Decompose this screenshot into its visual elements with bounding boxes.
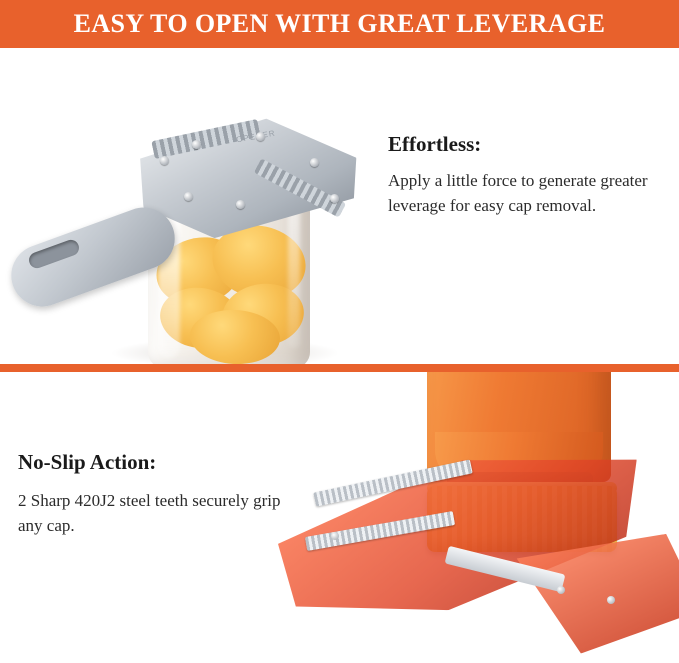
rivet-icon (557, 586, 565, 594)
header-banner: EASY TO OPEN WITH GREAT LEVERAGE (0, 0, 679, 48)
no-slip-text-block: No-Slip Action: 2 Sharp 420J2 steel teet… (18, 450, 288, 538)
rivet-icon (184, 192, 193, 201)
jar-highlight (288, 198, 300, 348)
rivet-icon (331, 532, 339, 540)
effortless-body: Apply a little force to generate greater… (388, 169, 672, 218)
rivet-icon (160, 156, 169, 165)
rivet-icon (310, 158, 319, 167)
rivet-icon (607, 596, 615, 604)
section-divider (0, 364, 679, 372)
red-opener-cap-photo (259, 372, 679, 663)
panel-no-slip: No-Slip Action: 2 Sharp 420J2 steel teet… (0, 372, 679, 663)
no-slip-heading: No-Slip Action: (18, 450, 288, 475)
effortless-heading: Effortless: (388, 132, 672, 157)
page-title: EASY TO OPEN WITH GREAT LEVERAGE (74, 9, 606, 39)
effortless-text-block: Effortless: Apply a little force to gene… (388, 132, 672, 218)
rivet-icon (330, 194, 339, 203)
rivet-icon (236, 200, 245, 209)
rivet-icon (256, 132, 265, 141)
panel-effortless: OPENER Effortless: Apply a little force … (0, 48, 679, 364)
no-slip-body: 2 Sharp 420J2 steel teeth securely grip … (18, 489, 288, 538)
rivet-icon (192, 140, 201, 149)
product-infographic: EASY TO OPEN WITH GREAT LEVERAGE OPENER (0, 0, 679, 663)
jar-opener-peaches-photo: OPENER (0, 48, 375, 364)
